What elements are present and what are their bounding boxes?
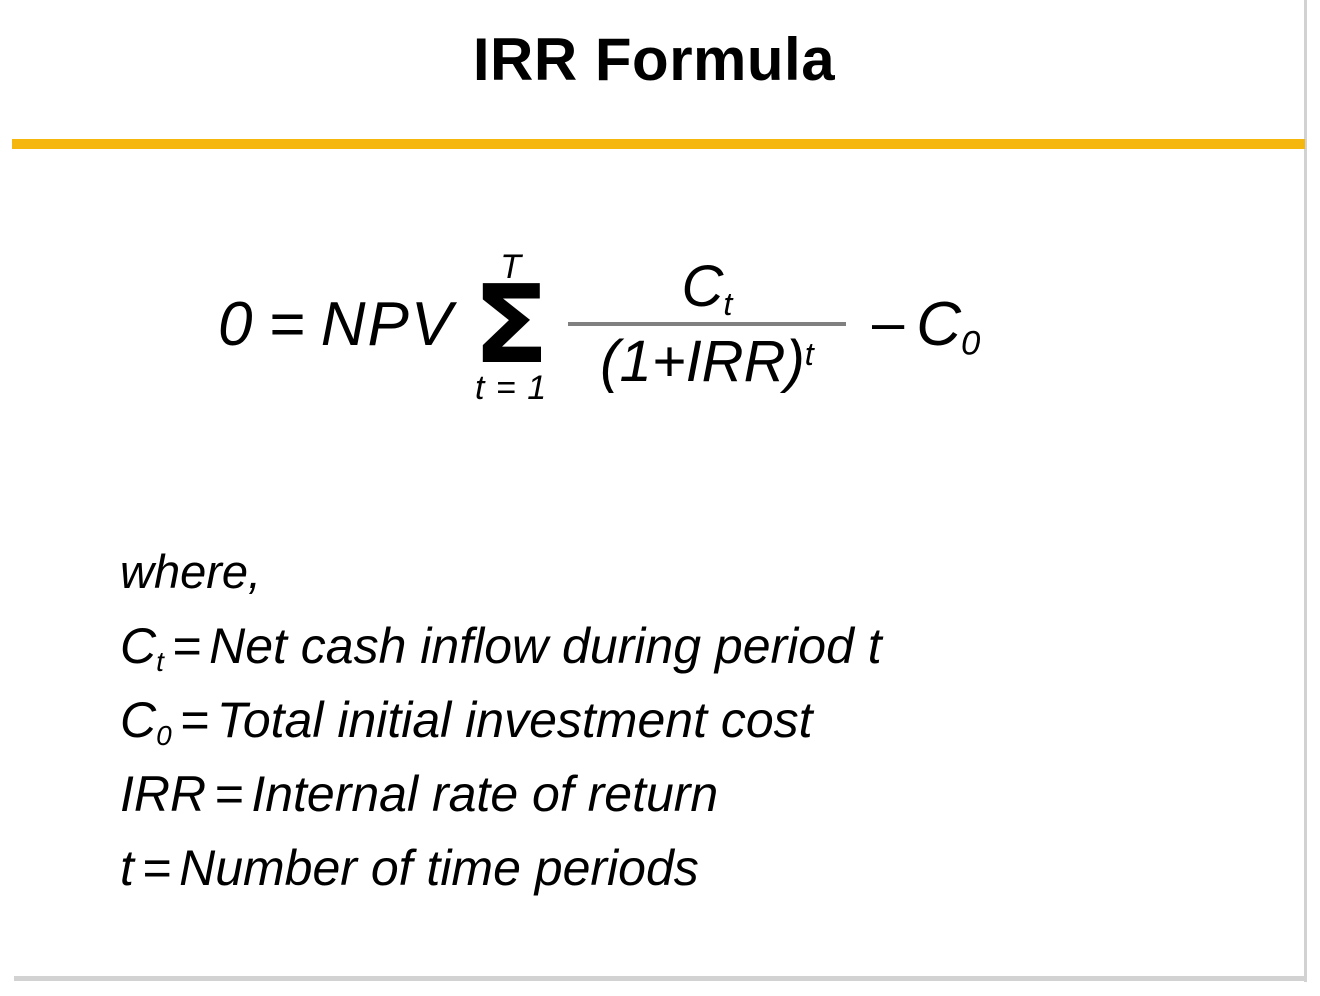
denominator-superscript: t [805, 336, 814, 372]
fraction-numerator: Ct [682, 257, 733, 322]
definition-description: Net cash inflow during period t [209, 618, 882, 674]
definition-equals: = [134, 840, 179, 896]
numerator-subscript: t [723, 286, 732, 322]
title-area: IRR Formula [0, 28, 1308, 91]
page-title: IRR Formula [473, 28, 835, 91]
definition-row: t=Number of time periods [120, 843, 882, 893]
definition-symbol-subscript: t [156, 646, 164, 677]
definition-row: C0=Total initial investment cost [120, 695, 882, 745]
title-accent-rule [12, 139, 1305, 149]
numerator-base: C [682, 254, 724, 319]
definition-equals: = [206, 766, 251, 822]
definition-equals: = [164, 618, 209, 674]
formula-npv-label: NPV [321, 290, 454, 359]
summation-block: T Σ t = 1 [474, 250, 548, 405]
definition-description: Number of time periods [179, 840, 699, 896]
definition-symbol-base: t [120, 840, 134, 896]
definition-description: Internal rate of return [251, 766, 718, 822]
definition-symbol: IRR [120, 766, 206, 822]
initial-investment-subscript: 0 [961, 325, 980, 363]
initial-investment-term: C0 [910, 294, 980, 356]
definitions-block: where, Ct=Net cash inflow during period … [120, 548, 882, 893]
formula-minus-sign: – [852, 294, 910, 352]
definition-description: Total initial investment cost [217, 692, 813, 748]
formula-zero: 0 [218, 290, 254, 359]
fraction-denominator: (1+IRR)t [600, 326, 814, 395]
definition-symbol-subscript: 0 [156, 720, 172, 751]
definition-symbol-base: C [120, 618, 156, 674]
definition-symbol-base: IRR [120, 766, 206, 822]
bottom-border-line [14, 976, 1307, 981]
definition-symbol: Ct [120, 618, 164, 674]
irr-formula: 0=NPV T Σ t = 1 Ct (1+IRR)t – C0 [218, 248, 980, 403]
initial-investment-base: C [916, 290, 961, 359]
discount-fraction: Ct (1+IRR)t [568, 257, 846, 395]
definition-equals: = [172, 692, 217, 748]
definition-symbol: t [120, 840, 134, 896]
definition-row: IRR=Internal rate of return [120, 769, 882, 819]
formula-left-hand-side: 0=NPV [218, 294, 464, 356]
formula-equals: = [254, 290, 320, 359]
definition-symbol-base: C [120, 692, 156, 748]
definition-symbol: C0 [120, 692, 172, 748]
denominator-base: (1+IRR) [600, 329, 805, 394]
sigma-icon: Σ [473, 282, 550, 371]
slide-canvas: IRR Formula 0=NPV T Σ t = 1 Ct (1+IRR)t … [0, 0, 1320, 996]
where-label: where, [120, 548, 882, 595]
definition-row: Ct=Net cash inflow during period t [120, 621, 882, 671]
